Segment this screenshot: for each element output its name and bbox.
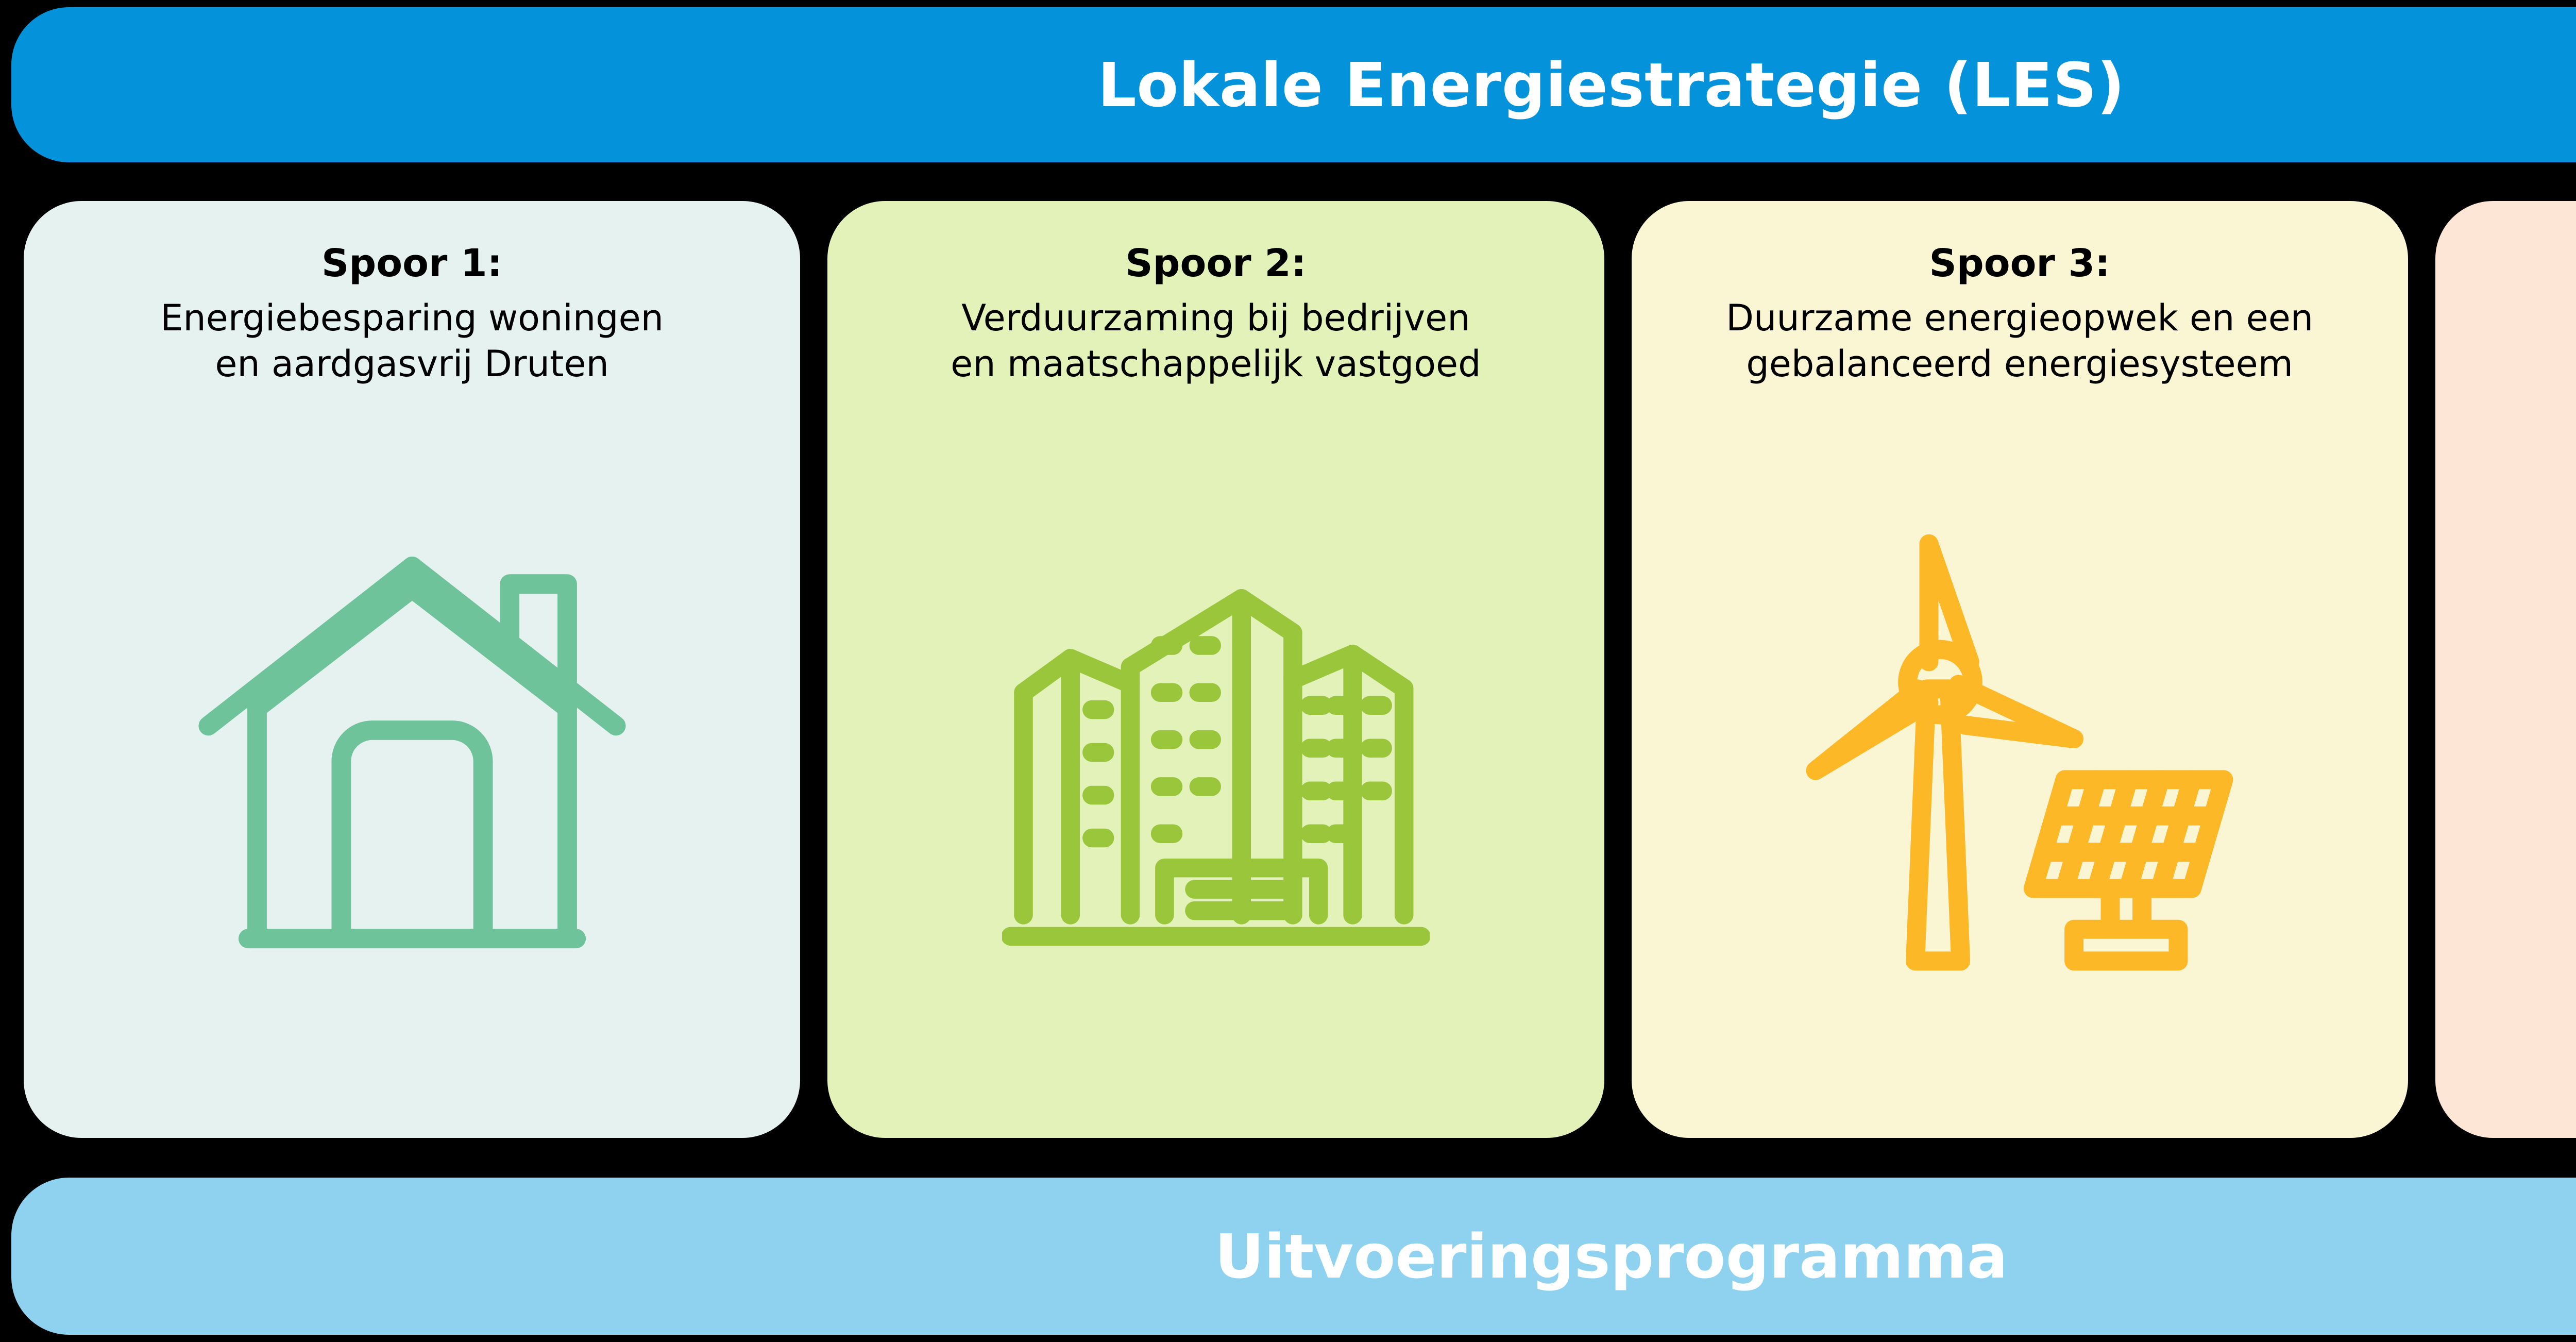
spoor-card-4-icon-wrap <box>2435 341 2576 1138</box>
page-title: Lokale Energiestrategie (LES) <box>1098 55 2125 115</box>
spoor-card-1-line2: en aardgasvrij Druten <box>24 341 800 388</box>
spoor-card-1-text: Spoor 1: Energiebesparing woningen en aa… <box>24 201 800 388</box>
wind-turbine-solar-panel-icon <box>1793 521 2246 984</box>
spoor-card-1-line1: Energiebesparing woningen <box>24 295 800 342</box>
spoor-card-4[interactable]: Spoor 4: Duurzame mobiliteit <box>2435 201 2576 1138</box>
spoor-card-2-text: Spoor 2: Verduurzaming bij bedrijven en … <box>827 201 1604 388</box>
spoor-card-3-text: Spoor 3: Duurzame energieopwek en een ge… <box>1632 201 2408 388</box>
house-icon <box>191 521 634 984</box>
footer-title: Uitvoeringsprogramma <box>1215 1226 2008 1287</box>
footer-bar: Uitvoeringsprogramma <box>11 1178 2576 1335</box>
spoor-card-3[interactable]: Spoor 3: Duurzame energieopwek en een ge… <box>1632 201 2408 1138</box>
spoor-card-row: Spoor 1: Energiebesparing woningen en aa… <box>24 201 2576 1138</box>
header-bar: Lokale Energiestrategie (LES) <box>11 7 2576 162</box>
spoor-card-2-icon-wrap <box>827 388 1604 1138</box>
spoor-card-2-line1: Verduurzaming bij bedrijven <box>827 295 1604 342</box>
spoor-card-2-title: Spoor 2: <box>827 239 1604 288</box>
spoor-card-4-title: Spoor 4: <box>2435 239 2576 288</box>
spoor-card-2-line2: en maatschappelijk vastgoed <box>827 341 1604 388</box>
spoor-card-1-title: Spoor 1: <box>24 239 800 288</box>
spoor-card-2[interactable]: Spoor 2: Verduurzaming bij bedrijven en … <box>827 201 1604 1138</box>
spoor-card-4-text: Spoor 4: Duurzame mobiliteit <box>2435 201 2576 341</box>
spoor-card-3-line2: gebalanceerd energiesysteem <box>1632 341 2408 388</box>
spoor-card-1-icon-wrap <box>24 388 800 1138</box>
spoor-card-4-line1: Duurzame mobiliteit <box>2435 295 2576 342</box>
spoor-card-1[interactable]: Spoor 1: Energiebesparing woningen en aa… <box>24 201 800 1138</box>
spoor-card-3-icon-wrap <box>1632 388 2408 1138</box>
office-buildings-icon <box>1002 521 1430 984</box>
spoor-card-3-line1: Duurzame energieopwek en een <box>1632 295 2408 342</box>
spoor-card-3-title: Spoor 3: <box>1632 239 2408 288</box>
